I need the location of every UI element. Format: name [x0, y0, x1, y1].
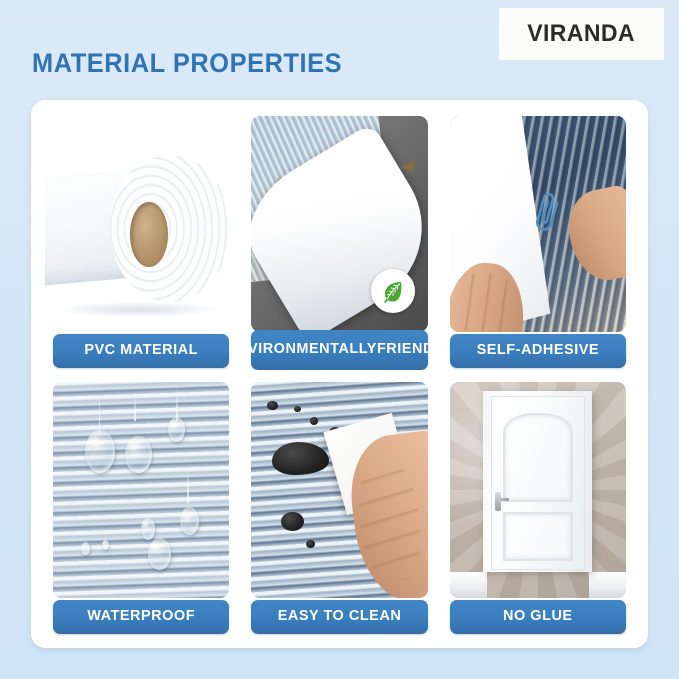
page-title: MATERIAL PROPERTIES	[32, 48, 342, 79]
feature-card-waterproof: WATERPROOF	[45, 378, 237, 636]
feature-label-waterproof: WATERPROOF	[53, 600, 229, 634]
feature-panel: PVC MATERIAL	[31, 100, 648, 648]
feature-card-pvc-material: PVC MATERIAL	[45, 112, 237, 370]
waterproof-image	[53, 382, 229, 598]
pvc-roll-image	[45, 116, 237, 332]
feature-label-easy-to-clean: EASY TO CLEAN	[251, 600, 427, 634]
feature-card-environmentally-friendly: ENVIRONMENTALLY FRIENDLY	[243, 112, 435, 370]
easy-to-clean-image	[251, 382, 427, 598]
feature-label-no-glue: NO GLUE	[450, 600, 626, 634]
no-glue-door-image	[450, 382, 626, 598]
feature-label-line2: FRIENDLY	[377, 342, 436, 358]
brand-name: VIRANDA	[528, 20, 636, 48]
feature-label-environmentally-friendly: ENVIRONMENTALLY FRIENDLY	[251, 330, 427, 370]
brand-logo: VIRANDA	[499, 8, 664, 60]
feature-card-easy-to-clean: EASY TO CLEAN	[243, 378, 435, 636]
feature-grid: PVC MATERIAL	[45, 112, 634, 636]
feature-card-self-adhesive: SELF-ADHESIVE	[442, 112, 634, 370]
leaf-icon	[371, 269, 415, 313]
eco-wallpaper-image	[251, 116, 427, 332]
feature-label-pvc-material: PVC MATERIAL	[53, 334, 229, 368]
self-adhesive-image	[450, 116, 626, 332]
feature-label-self-adhesive: SELF-ADHESIVE	[450, 334, 626, 368]
page-header: MATERIAL PROPERTIES VIRANDA	[0, 0, 679, 100]
feature-card-no-glue: NO GLUE	[442, 378, 634, 636]
feature-label-line1: ENVIRONMENTALLY	[243, 342, 377, 358]
